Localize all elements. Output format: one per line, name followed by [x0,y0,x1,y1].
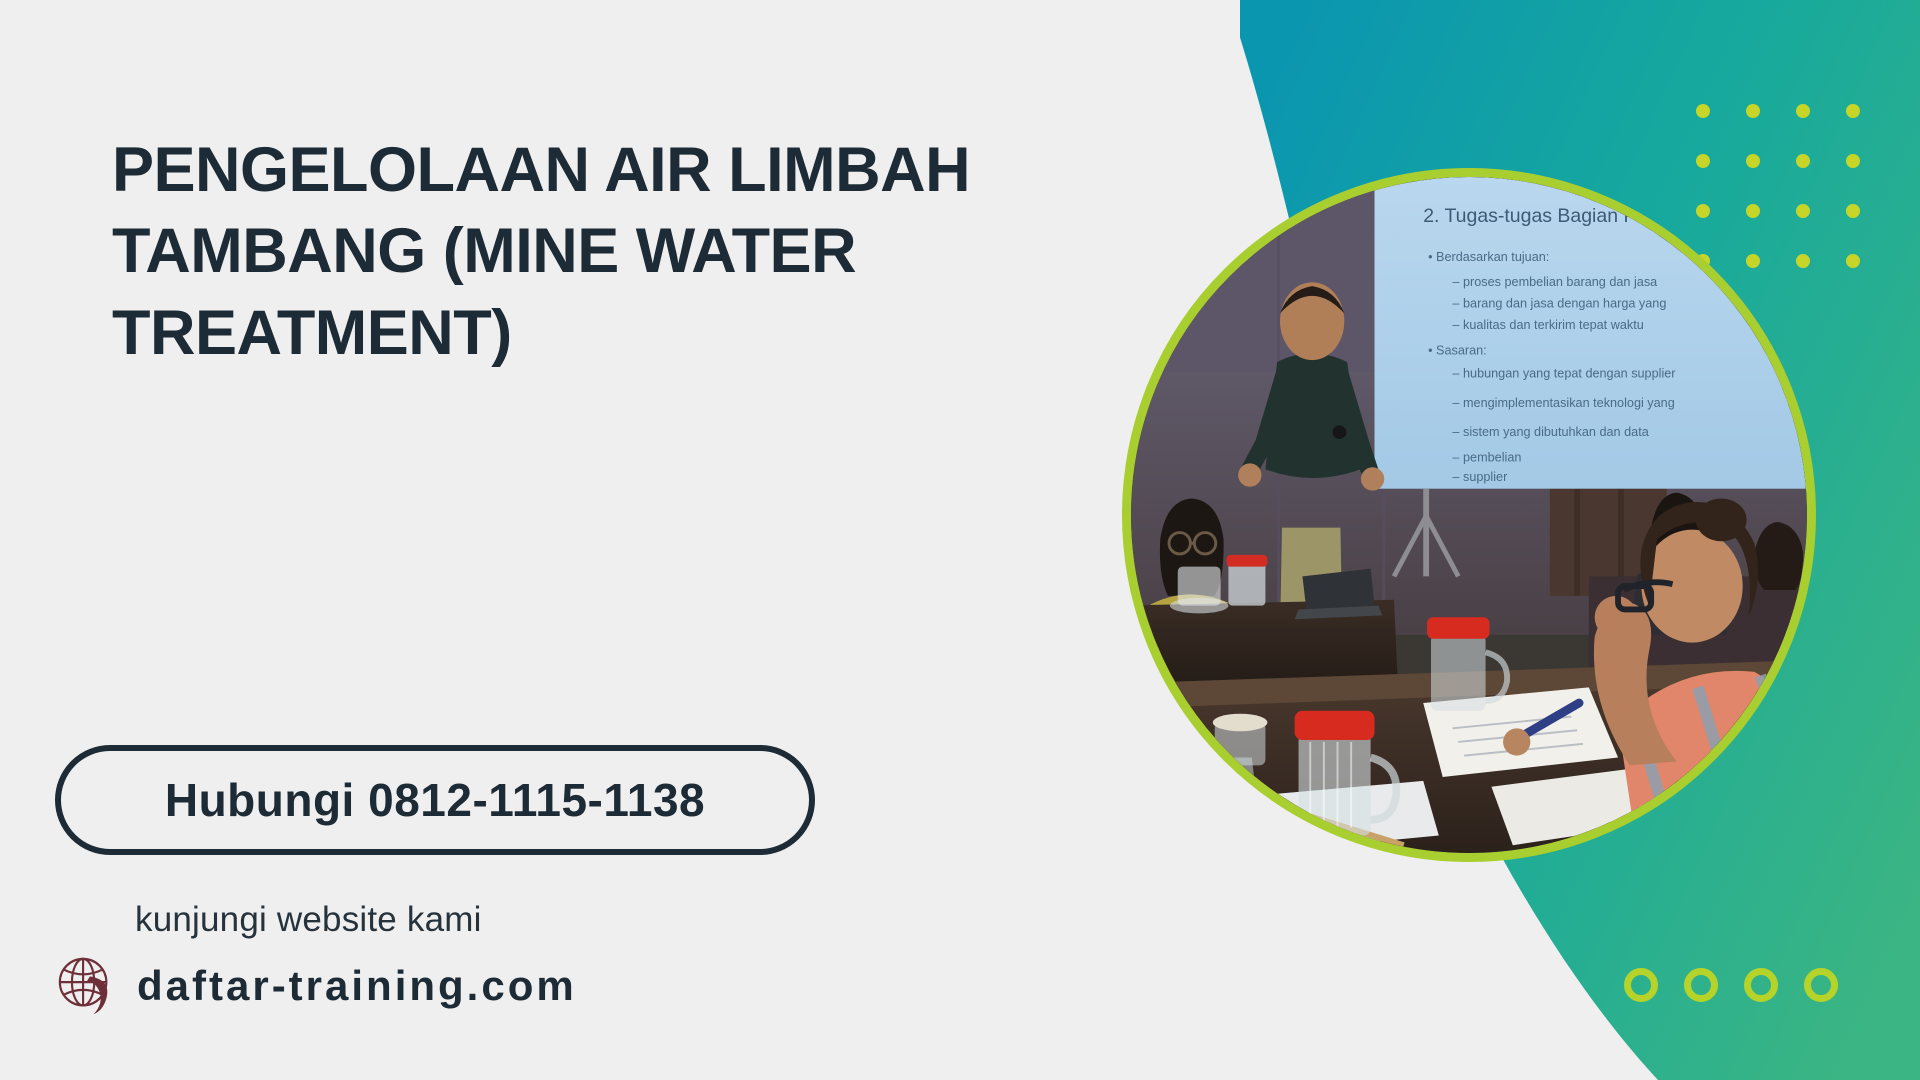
svg-text:– hubungan yang tepat dengan s: – hubungan yang tepat dengan supplier [1452,367,1675,381]
contact-cta-button[interactable]: Hubungi 0812-1115-1138 [55,745,815,855]
ring-dot [1744,968,1778,1002]
svg-text:– supplier: – supplier [1452,470,1507,484]
photo-inner: 2. Tugas-tugas Bagian Pengadaan • Berdas… [1131,177,1807,853]
website-url: daftar-training.com [137,962,577,1010]
svg-text:– pembelian: – pembelian [1452,450,1521,464]
grid-dot [1696,154,1710,168]
grid-dot [1746,104,1760,118]
training-photo: 2. Tugas-tugas Bagian Pengadaan • Berdas… [1122,168,1816,862]
svg-text:• Berdasarkan tujuan:: • Berdasarkan tujuan: [1428,250,1549,264]
ring-row-decoration [1624,968,1838,1002]
contact-cta-label: Hubungi 0812-1115-1138 [165,773,705,827]
grid-dot [1746,254,1760,268]
svg-text:– proses pembelian barang dan: – proses pembelian barang dan jasa [1452,275,1658,289]
grid-dot [1846,204,1860,218]
website-row[interactable]: daftar-training.com [55,955,577,1017]
svg-text:– barang dan jasa dengan harga: – barang dan jasa dengan harga yang [1452,297,1666,311]
left-content-panel: PENGELOLAAN AIR LIMBAH TAMBANG (MINE WAT… [0,0,1240,1080]
grid-dot [1846,104,1860,118]
grid-dot [1846,154,1860,168]
grid-dot [1746,204,1760,218]
svg-text:• Sasaran:: • Sasaran: [1428,343,1487,357]
svg-text:– sistem yang dibutuhkan dan d: – sistem yang dibutuhkan dan data [1452,425,1649,439]
grid-dot [1796,254,1810,268]
grid-dot [1746,154,1760,168]
svg-text:– kualitas dan terkirim tepat: – kualitas dan terkirim tepat waktu [1452,318,1643,332]
grid-dot [1796,154,1810,168]
seminar-room-illustration: 2. Tugas-tugas Bagian Pengadaan • Berdas… [1131,177,1807,853]
grid-dot [1696,204,1710,218]
grid-dot [1696,104,1710,118]
svg-text:– mengimplementasikan teknolog: – mengimplementasikan teknologi yang [1452,396,1674,410]
ring-dot [1804,968,1838,1002]
visit-website-label: kunjungi website kami [135,900,482,940]
grid-dot [1796,104,1810,118]
ring-dot [1684,968,1718,1002]
grid-dot [1846,254,1860,268]
page-title: PENGELOLAAN AIR LIMBAH TAMBANG (MINE WAT… [112,130,1042,374]
ring-dot [1624,968,1658,1002]
globe-icon [55,955,117,1017]
dot-grid-decoration [1696,104,1860,268]
grid-dot [1796,204,1810,218]
